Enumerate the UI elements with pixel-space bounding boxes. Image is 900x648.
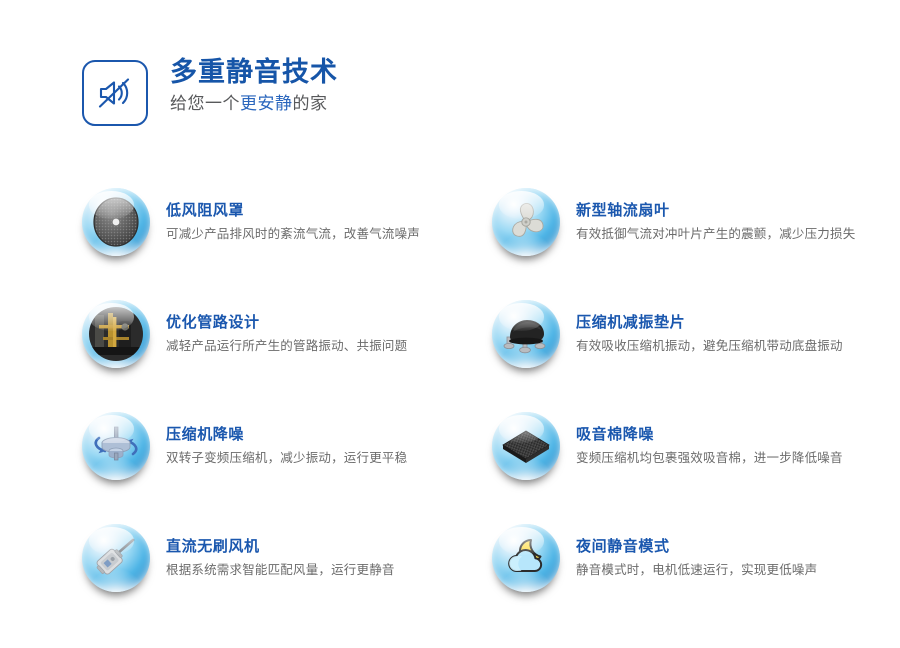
feature-desc: 有效抵御气流对冲叶片产生的震颤，减少压力损失 bbox=[576, 227, 855, 243]
feature-title: 新型轴流扇叶 bbox=[576, 202, 855, 220]
feature-title: 优化管路设计 bbox=[166, 314, 407, 332]
feature-text: 夜间静音模式 静音模式时，电机低速运行，实现更低噪声 bbox=[576, 522, 817, 579]
feature-text: 优化管路设计 减轻产品运行所产生的管路振动、共振问题 bbox=[166, 298, 407, 355]
feature-item: 压缩机降噪 双转子变频压缩机，减少振动，运行更平稳 bbox=[82, 410, 472, 502]
axial-fan-blade-icon bbox=[499, 195, 553, 249]
subtitle-pre: 给您一个 bbox=[170, 94, 240, 113]
feature-item: 夜间静音模式 静音模式时，电机低速运行，实现更低噪声 bbox=[492, 522, 882, 614]
feature-title: 低风阻风罩 bbox=[166, 202, 420, 220]
pipe-layout-icon bbox=[89, 307, 143, 361]
feature-icon-orb bbox=[492, 188, 560, 256]
feature-desc: 静音模式时，电机低速运行，实现更低噪声 bbox=[576, 563, 817, 579]
dc-brushless-motor-icon bbox=[89, 531, 143, 585]
feature-title: 直流无刷风机 bbox=[166, 538, 395, 556]
feature-item: 优化管路设计 减轻产品运行所产生的管路振动、共振问题 bbox=[82, 298, 472, 390]
feature-text: 低风阻风罩 可减少产品排风时的紊流气流，改善气流噪声 bbox=[166, 186, 420, 243]
feature-desc: 双转子变频压缩机，减少振动，运行更平稳 bbox=[166, 451, 407, 467]
feature-title: 夜间静音模式 bbox=[576, 538, 817, 556]
feature-icon-orb bbox=[82, 524, 150, 592]
feature-item: 新型轴流扇叶 有效抵御气流对冲叶片产生的震颤，减少压力损失 bbox=[492, 186, 882, 278]
feature-desc: 减轻产品运行所产生的管路振动、共振问题 bbox=[166, 339, 407, 355]
feature-text: 压缩机减振垫片 有效吸收压缩机振动，避免压缩机带动底盘振动 bbox=[576, 298, 843, 355]
moon-cloud-night-icon bbox=[499, 531, 553, 585]
page-title: 多重静音技术 bbox=[170, 57, 338, 88]
feature-item: 直流无刷风机 根据系统需求智能匹配风量，运行更静音 bbox=[82, 522, 472, 614]
feature-item: 低风阻风罩 可减少产品排风时的紊流气流，改善气流噪声 bbox=[82, 186, 472, 278]
feature-icon-orb bbox=[82, 412, 150, 480]
feature-title: 压缩机降噪 bbox=[166, 426, 407, 444]
feature-icon-orb bbox=[492, 412, 560, 480]
compressor-damping-pad-icon bbox=[499, 307, 553, 361]
feature-text: 吸音棉降噪 变频压缩机均包裹强效吸音棉，进一步降低噪音 bbox=[576, 410, 843, 467]
feature-icon-orb bbox=[82, 188, 150, 256]
feature-text: 新型轴流扇叶 有效抵御气流对冲叶片产生的震颤，减少压力损失 bbox=[576, 186, 855, 243]
feature-item: 吸音棉降噪 变频压缩机均包裹强效吸音棉，进一步降低噪音 bbox=[492, 410, 882, 502]
page-header: 多重静音技术 给您一个更安静的家 bbox=[82, 57, 338, 126]
rotor-compressor-icon bbox=[89, 419, 143, 473]
feature-text: 直流无刷风机 根据系统需求智能匹配风量，运行更静音 bbox=[166, 522, 395, 579]
air-grille-icon bbox=[89, 195, 143, 249]
sound-absorbing-foam-icon bbox=[499, 419, 553, 473]
feature-title: 压缩机减振垫片 bbox=[576, 314, 843, 332]
mute-speaker-icon bbox=[82, 60, 148, 126]
feature-title: 吸音棉降噪 bbox=[576, 426, 843, 444]
subtitle-highlight: 更安静 bbox=[240, 94, 293, 113]
feature-desc: 可减少产品排风时的紊流气流，改善气流噪声 bbox=[166, 227, 420, 243]
feature-text: 压缩机降噪 双转子变频压缩机，减少振动，运行更平稳 bbox=[166, 410, 407, 467]
feature-desc: 有效吸收压缩机振动，避免压缩机带动底盘振动 bbox=[576, 339, 843, 355]
feature-desc: 根据系统需求智能匹配风量，运行更静音 bbox=[166, 563, 395, 579]
feature-grid: 低风阻风罩 可减少产品排风时的紊流气流，改善气流噪声 新型轴流扇叶 有效抵 bbox=[82, 186, 882, 614]
feature-icon-orb bbox=[82, 300, 150, 368]
page-subtitle: 给您一个更安静的家 bbox=[170, 94, 338, 114]
feature-item: 压缩机减振垫片 有效吸收压缩机振动，避免压缩机带动底盘振动 bbox=[492, 298, 882, 390]
feature-desc: 变频压缩机均包裹强效吸音棉，进一步降低噪音 bbox=[576, 451, 843, 467]
subtitle-post: 的家 bbox=[293, 94, 328, 113]
feature-icon-orb bbox=[492, 524, 560, 592]
feature-icon-orb bbox=[492, 300, 560, 368]
